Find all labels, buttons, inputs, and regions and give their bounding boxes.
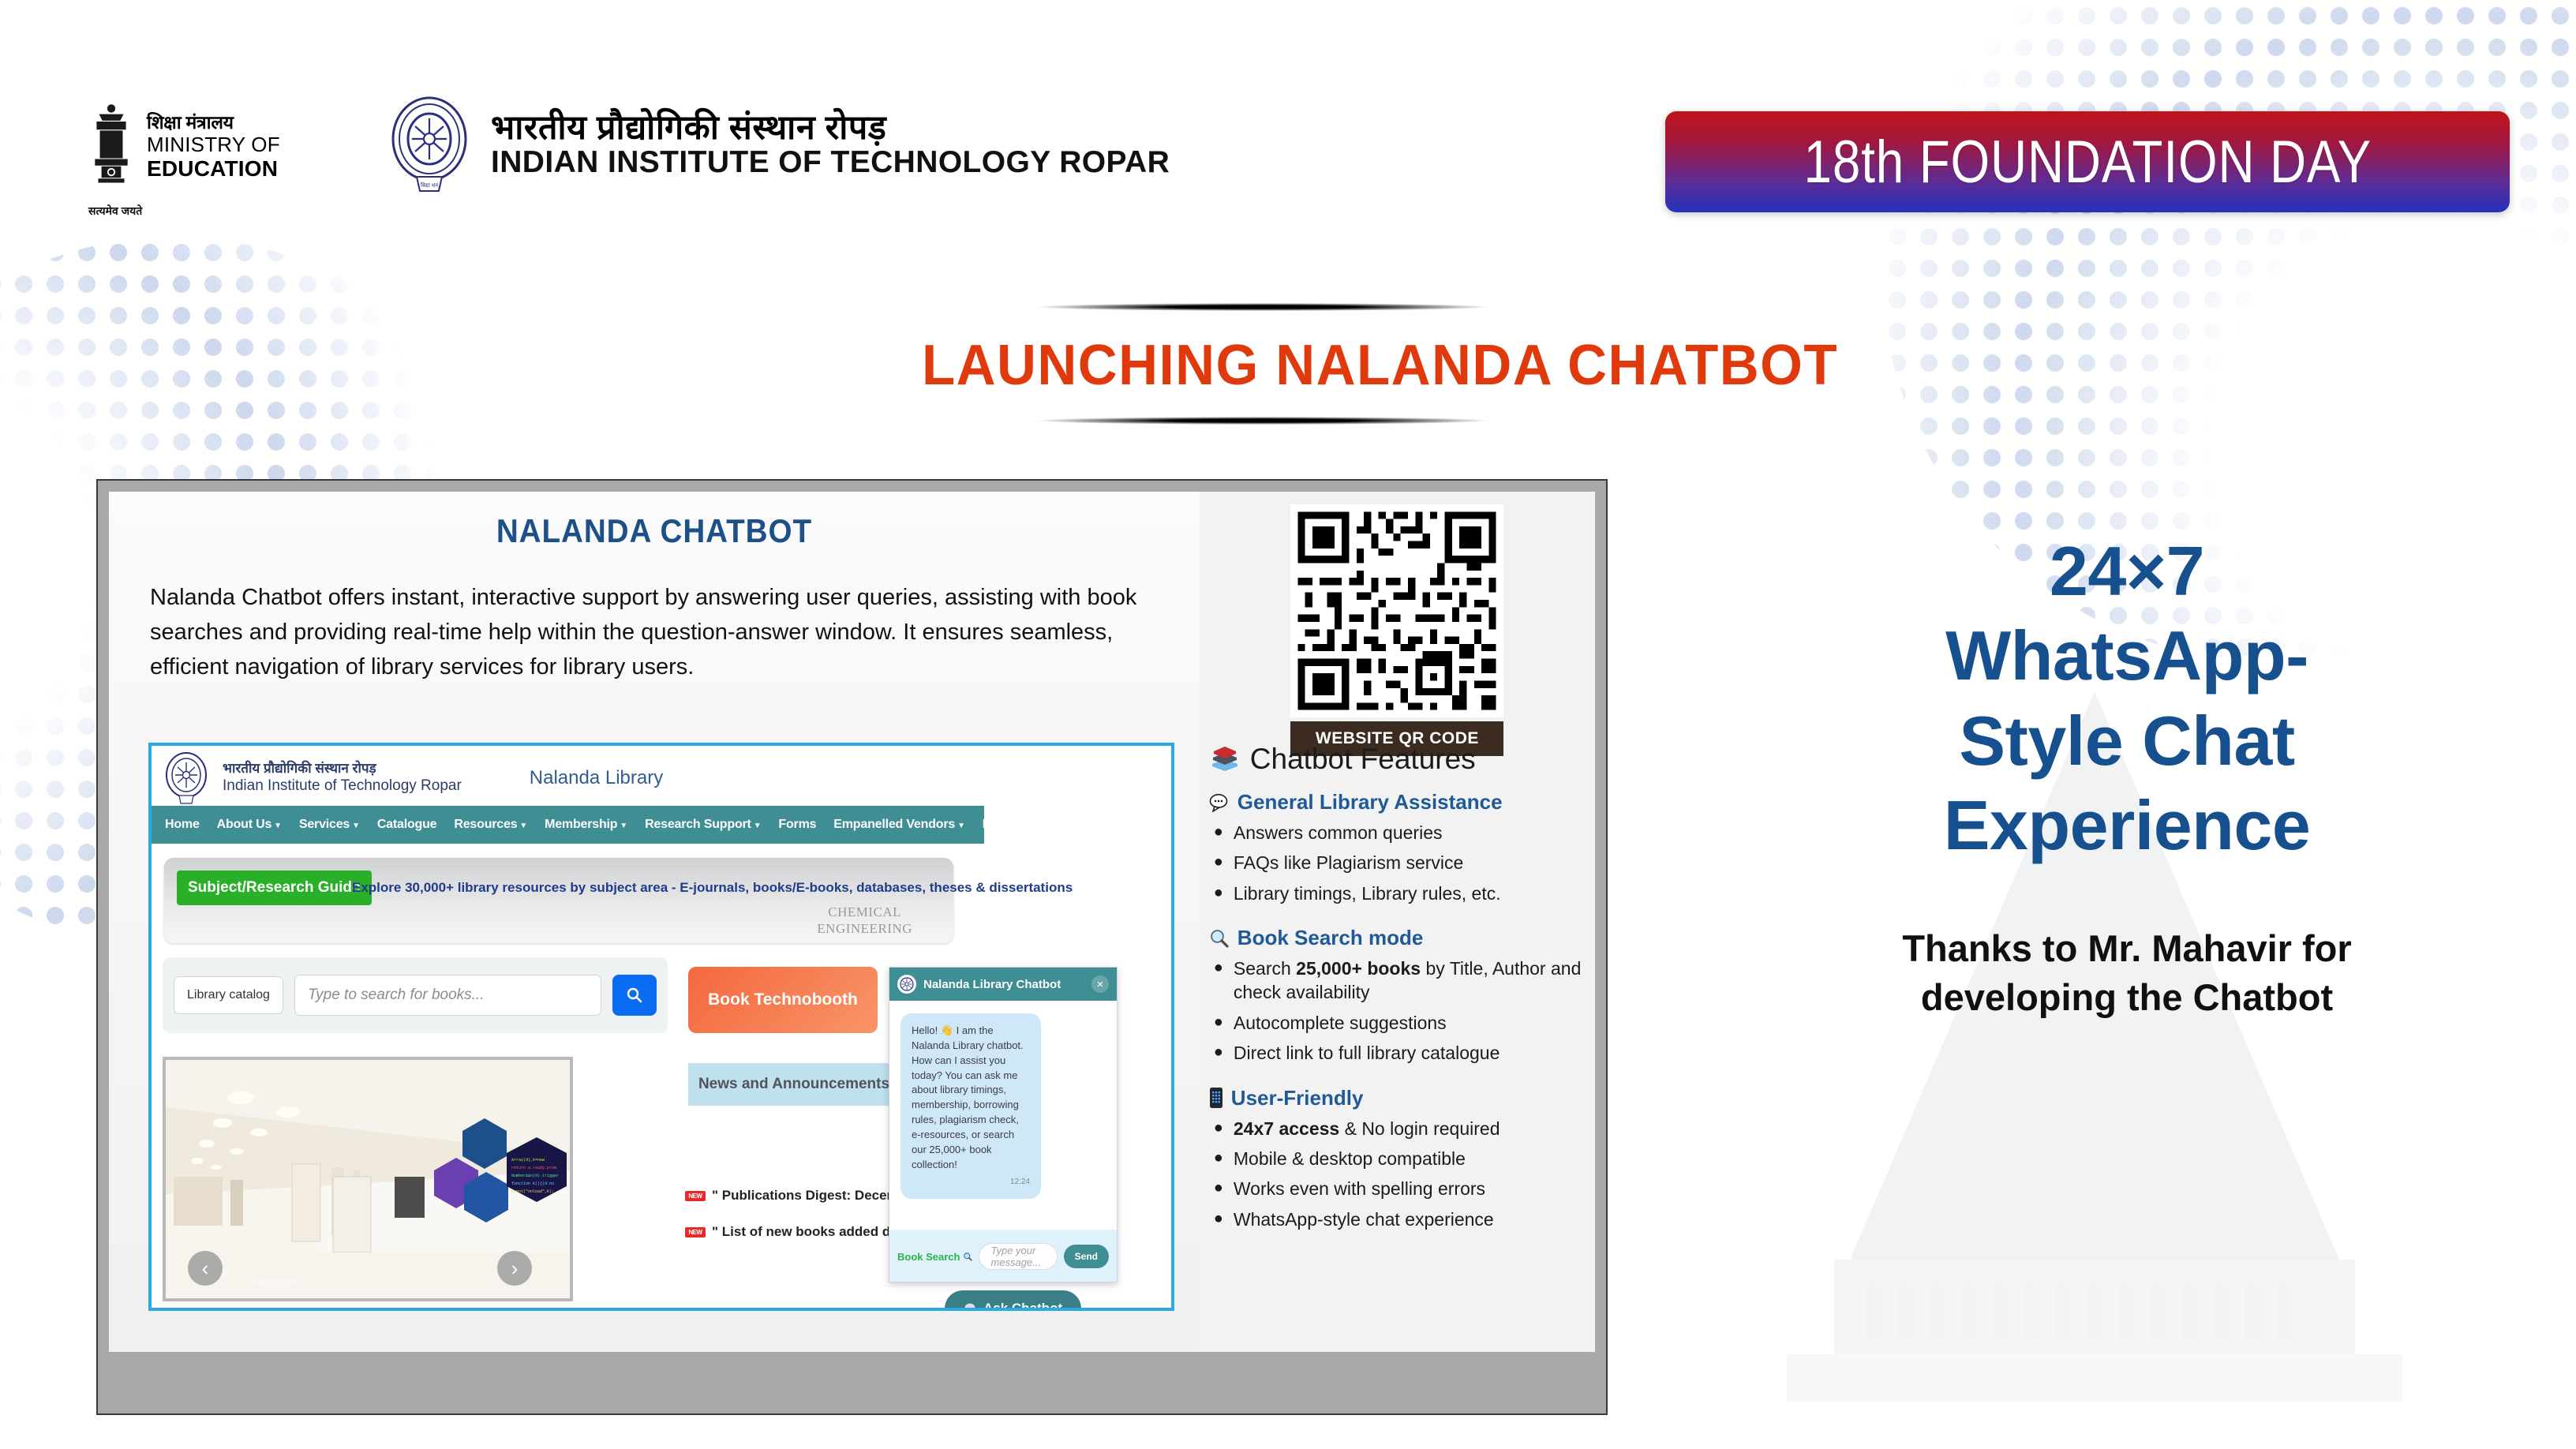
chevron-down-icon: ▼ (754, 822, 762, 830)
chatbot-message-area: Hello! 👋 I am the Nalanda Library chatbo… (889, 1001, 1117, 1230)
chevron-down-icon: ▼ (352, 822, 360, 830)
nav-item-catalogue[interactable]: Catalogue (369, 818, 446, 832)
ministry-line2: EDUCATION (147, 156, 280, 181)
feature-item: ●Answers common queries (1209, 821, 1589, 844)
catalog-search-bar: Library catalog Type to search for books… (163, 957, 668, 1033)
bullet-icon: ● (1214, 1041, 1223, 1065)
iit-ropar-seal-icon: विद्या धनं (387, 95, 472, 196)
ask-chatbot-label: Ask Chatbot (983, 1301, 1062, 1311)
feature-item: ●Works even with spelling errors (1209, 1177, 1589, 1200)
chatbot-header: Nalanda Library Chatbot × (889, 968, 1117, 1001)
svg-text:Event("onload",K);: Event("onload",K); (511, 1189, 554, 1194)
chatbot-footer: Book Search Type your message... Send (889, 1230, 1117, 1282)
slogan-line-2: WhatsApp- (1728, 613, 2525, 698)
institute-english-name: INDIAN INSTITUTE OF TECHNOLOGY ROPAR (491, 146, 1170, 180)
nav-item-forms[interactable]: Forms (769, 818, 825, 832)
right-highlight-column: 24×7 WhatsApp- Style Chat Experience Tha… (1728, 529, 2525, 1023)
features-panel-title: Chatbot Features (1209, 743, 1589, 776)
carousel-prev-button[interactable]: ‹ (188, 1251, 223, 1286)
chevron-down-icon: ▼ (1052, 822, 1060, 830)
website-qr-code[interactable] (1290, 504, 1503, 717)
magnifier-icon (963, 1252, 972, 1261)
library-seal-small-icon (900, 977, 914, 991)
feature-list: ●Answers common queries ●FAQs like Plagi… (1209, 821, 1589, 905)
new-badge: NEW (685, 1227, 706, 1237)
feature-list: ● Search 25,000+ books by Title, Author … (1209, 957, 1589, 1065)
chatbot-showcase-card: NALANDA CHATBOT Nalanda Chatbot offers i… (96, 479, 1608, 1415)
bullet-icon: ● (1214, 882, 1223, 905)
nav-item-research-support[interactable]: Research Support▼ (636, 818, 769, 832)
nav-item-membership[interactable]: Membership▼ (536, 818, 636, 832)
card-right-pane: WEBSITE QR CODE Chatbot Features (1200, 492, 1595, 1352)
feature-group-heading: User-Friendly (1209, 1086, 1589, 1110)
iit-ropar-logo-block: विद्या धनं भारतीय प्रौद्योगिकी संस्थान र… (387, 95, 1170, 196)
feature-item: ●Autocomplete suggestions (1209, 1011, 1589, 1035)
subject-guide-tag[interactable]: Subject/Research Guide (177, 871, 372, 905)
nav-item-about-us[interactable]: About Us▼ (208, 818, 290, 832)
launch-title-block: LAUNCHING NALANDA CHATBOT (908, 301, 1618, 426)
library-nav-bar[interactable]: Home About Us▼ Services▼ Catalogue Resou… (152, 806, 984, 844)
message-timestamp: 12:24 (912, 1177, 1030, 1189)
credits-text: Thanks to Mr. Mahavir for developing the… (1728, 924, 2525, 1022)
bullet-icon: ● (1214, 1117, 1223, 1140)
book-search-mode-link[interactable]: Book Search (897, 1251, 972, 1263)
feature-item: ●Library timings, Library rules, etc. (1209, 882, 1589, 905)
feature-list: ● 24x7 access & No login required ●Mobil… (1209, 1117, 1589, 1231)
slogan-line-3: Style Chat (1728, 698, 2525, 783)
book-search-input[interactable]: Type to search for books... (294, 975, 601, 1016)
chevron-down-icon: ▼ (519, 822, 527, 830)
card-left-pane: NALANDA CHATBOT Nalanda Chatbot offers i… (109, 492, 1200, 1352)
new-badge: NEW (685, 1191, 706, 1201)
news-announcements-header: News and Announcements (688, 1063, 900, 1106)
library-corridor-photo: Array(d),k=new return a.ready.prom Numbe… (163, 1057, 573, 1301)
page-title: LAUNCHING NALANDA CHATBOT (922, 333, 1604, 398)
bullet-icon: ● (1214, 1207, 1223, 1231)
search-icon (625, 986, 644, 1005)
library-website-screenshot: भारतीय प्रौद्योगिकी संस्थान रोपड़ Indian… (148, 743, 1174, 1311)
library-name: Nalanda Library (530, 767, 663, 789)
nav-item-resources[interactable]: Resources▼ (445, 818, 536, 832)
feature-group: General Library Assistance ●Answers comm… (1209, 790, 1589, 905)
site-english-name: Indian Institute of Technology Ropar (223, 777, 462, 796)
nav-item-empanelled-vendors[interactable]: Empanelled Vendors▼ (825, 818, 974, 832)
speech-bubble-icon (1209, 793, 1230, 812)
chatbot-message-input[interactable]: Type your message... (979, 1243, 1057, 1270)
national-emblem-icon (87, 101, 136, 193)
subject-guide-text: Explore 30,000+ library resources by sub… (352, 880, 1073, 896)
library-site-header: भारतीय प्रौद्योगिकी संस्थान रोपड़ Indian… (152, 746, 1171, 806)
foundation-day-badge: 18th FOUNDATION DAY (1665, 111, 2510, 212)
credits-line-1: Thanks to Mr. Mahavir for (1728, 924, 2525, 973)
svg-text:Number&&n(d).trigger: Number&&n(d).trigger (511, 1174, 559, 1178)
chat-bubble-icon (964, 1302, 976, 1311)
credits-line-2: developing the Chatbot (1728, 973, 2525, 1022)
library-seal-icon (163, 751, 210, 805)
ask-chatbot-button[interactable]: Ask Chatbot (945, 1290, 1081, 1311)
feature-item: ●Mobile & desktop compatible (1209, 1147, 1589, 1170)
qr-code-block: WEBSITE QR CODE (1290, 504, 1503, 756)
feature-group: User-Friendly ● 24x7 access & No login r… (1209, 1086, 1589, 1231)
feature-item: ●Direct link to full library catalogue (1209, 1041, 1589, 1065)
card-heading: NALANDA CHATBOT (152, 492, 1155, 550)
svg-text:Array(d),k=new: Array(d),k=new (511, 1158, 545, 1163)
feature-item: ● 24x7 access & No login required (1209, 1117, 1589, 1140)
nav-item-know-more[interactable]: Know more▼ (974, 818, 1069, 832)
ministry-hindi-label: शिक्षा मंत्रालय (147, 113, 280, 133)
nav-item-home[interactable]: Home (156, 818, 208, 832)
bullet-icon: ● (1214, 821, 1223, 844)
slogan-text: 24×7 WhatsApp- Style Chat Experience (1728, 529, 2525, 867)
bullet-icon: ● (1214, 1147, 1223, 1170)
bullet-icon: ● (1214, 957, 1223, 1005)
svg-text:विद्या धनं: विद्या धनं (421, 182, 438, 189)
subject-guide-banner: Subject/Research Guide Explore 30,000+ l… (164, 858, 953, 943)
subject-guide-department: CHEMICAL ENGINEERING (817, 904, 912, 938)
chevron-down-icon: ▼ (957, 822, 965, 830)
chatbot-features-panel: Chatbot Features General Library Assista… (1209, 743, 1589, 1252)
feature-item: ● Search 25,000+ books by Title, Author … (1209, 957, 1589, 1005)
bullet-icon: ● (1214, 1177, 1223, 1200)
book-technobooth-button[interactable]: Book Technobooth (688, 967, 878, 1033)
magnifier-icon (1209, 928, 1230, 949)
divider-top (947, 301, 1578, 313)
mobile-phone-icon (1209, 1087, 1223, 1109)
chatbot-widget: Nalanda Library Chatbot × Hello! 👋 I am … (889, 967, 1118, 1282)
chatbot-title: Nalanda Library Chatbot (923, 978, 1084, 991)
slogan-line-4: Experience (1728, 783, 2525, 867)
search-submit-button[interactable] (612, 975, 657, 1016)
svg-text:return a.ready.prom: return a.ready.prom (511, 1166, 556, 1170)
feature-item: ●FAQs like Plagiarism service (1209, 851, 1589, 874)
catalog-scope-select[interactable]: Library catalog (174, 976, 283, 1014)
institute-hindi-name: भारतीय प्रौद्योगिकी संस्थान रोपड़ (491, 110, 1170, 146)
chatbot-greeting-bubble: Hello! 👋 I am the Nalanda Library chatbo… (900, 1013, 1041, 1199)
books-stack-icon (1209, 745, 1241, 773)
nav-item-services[interactable]: Services▼ (290, 818, 369, 832)
card-description: Nalanda Chatbot offers instant, interact… (150, 580, 1159, 684)
chatbot-greeting-text: Hello! 👋 I am the Nalanda Library chatbo… (912, 1024, 1030, 1172)
page-header: शिक्षा मंत्रालय MINISTRY OF EDUCATION सत… (0, 0, 2576, 182)
feature-group: Book Search mode ● Search 25,000+ books … (1209, 926, 1589, 1065)
bullet-icon: ● (1214, 851, 1223, 874)
close-icon[interactable]: × (1091, 975, 1109, 993)
feature-item: ●WhatsApp-style chat experience (1209, 1207, 1589, 1231)
carousel-next-button[interactable]: › (497, 1251, 532, 1286)
chatbot-avatar (897, 975, 916, 994)
foundation-day-label: 18th FOUNDATION DAY (1803, 128, 2372, 197)
svg-text:function K(){(d.no: function K(){(d.no (511, 1181, 554, 1186)
chevron-down-icon: ▼ (620, 822, 627, 830)
chatbot-send-button[interactable]: Send (1064, 1245, 1109, 1268)
chevron-down-icon: ▼ (274, 822, 282, 830)
ministry-of-education-logo: शिक्षा मंत्रालय MINISTRY OF EDUCATION (87, 101, 280, 193)
ministry-line1: MINISTRY OF (147, 133, 280, 156)
divider-bottom (947, 415, 1578, 426)
feature-group-heading: Book Search mode (1209, 926, 1589, 950)
national-motto: सत्यमेव जयते (88, 204, 142, 219)
slogan-line-1: 24×7 (1728, 529, 2525, 613)
site-hindi-name: भारतीय प्रौद्योगिकी संस्थान रोपड़ (223, 761, 462, 777)
feature-group-heading: General Library Assistance (1209, 790, 1589, 814)
bullet-icon: ● (1214, 1011, 1223, 1035)
